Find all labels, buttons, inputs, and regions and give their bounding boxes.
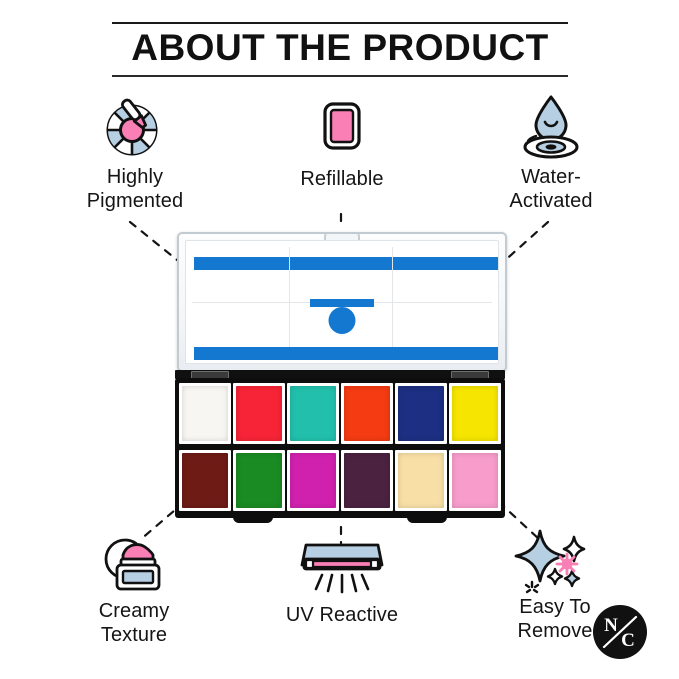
- lid-accent-bar-top: [194, 257, 498, 270]
- paint-swatch-teal: [290, 386, 336, 441]
- water-droplet-icon: [516, 91, 586, 163]
- palette-tray: [175, 378, 505, 518]
- paint-swatch-red: [236, 386, 282, 441]
- paint-swatch-pink: [452, 453, 498, 508]
- icon-wrap: [257, 90, 427, 168]
- palette-lid-inner: [185, 240, 499, 364]
- feature-creamy-texture: Creamy Texture: [49, 528, 219, 647]
- lid-logo-dot: [329, 307, 356, 334]
- brand-logo-c: C: [621, 630, 635, 651]
- paint-pan[interactable]: [287, 383, 339, 444]
- header-rule-bottom: [112, 75, 568, 77]
- feature-label: UV Reactive: [257, 604, 427, 628]
- palette-lid: [177, 232, 507, 372]
- paint-swatch-white: [182, 386, 228, 441]
- paint-swatch-dark-plum: [344, 453, 390, 508]
- page-header: ABOUT THE PRODUCT: [112, 22, 568, 77]
- cream-jar-icon: [97, 531, 171, 597]
- tray-foot-left: [233, 517, 273, 523]
- color-wheel-brush-icon: [100, 92, 170, 162]
- feature-highly-pigmented: Highly Pigmented: [50, 88, 220, 213]
- uv-lamp-icon: [294, 537, 390, 599]
- feature-uv-reactive: UV Reactive: [257, 532, 427, 628]
- sparkles-icon: [514, 525, 596, 595]
- paint-pan[interactable]: [395, 450, 447, 511]
- icon-wrap: [49, 528, 219, 600]
- paint-swatch-navy-blue: [398, 386, 444, 441]
- feature-refillable: Refillable: [257, 90, 427, 192]
- paint-swatch-burgundy: [182, 453, 228, 508]
- paint-swatch-cream: [398, 453, 444, 508]
- icon-wrap: [470, 524, 640, 596]
- tray-foot-right: [407, 517, 447, 523]
- paint-swatch-orange-red: [344, 386, 390, 441]
- refill-pan-icon: [312, 94, 372, 164]
- paint-pan[interactable]: [449, 450, 501, 511]
- feature-label: Highly Pigmented: [50, 166, 220, 213]
- feature-label: Water- Activated: [466, 166, 636, 213]
- paint-pan[interactable]: [341, 450, 393, 511]
- pan-row-bottom: [179, 450, 501, 511]
- lid-accent-bar-bottom: [194, 347, 498, 360]
- paint-pan[interactable]: [233, 383, 285, 444]
- lid-logo-bar: [310, 299, 374, 307]
- paint-pan[interactable]: [395, 383, 447, 444]
- pink-starburst: [557, 554, 577, 574]
- icon-wrap: [50, 88, 220, 166]
- feature-label: Creamy Texture: [49, 600, 219, 647]
- paint-pan[interactable]: [449, 383, 501, 444]
- paint-swatch-magenta: [290, 453, 336, 508]
- small-sparkle: [526, 582, 538, 592]
- paint-swatch-yellow: [452, 386, 498, 441]
- paint-pan[interactable]: [233, 450, 285, 511]
- paint-pan[interactable]: [341, 383, 393, 444]
- feature-water-activated: Water- Activated: [466, 88, 636, 213]
- face-paint-palette: [175, 232, 505, 528]
- paint-pan[interactable]: [179, 450, 231, 511]
- feature-label: Refillable: [257, 168, 427, 192]
- paint-pan[interactable]: [179, 383, 231, 444]
- paint-swatch-green: [236, 453, 282, 508]
- icon-wrap: [466, 88, 636, 166]
- pan-row-top: [179, 383, 501, 444]
- brand-logo-n: N: [604, 615, 618, 636]
- paint-pan[interactable]: [287, 450, 339, 511]
- brand-logo: N C: [592, 604, 648, 660]
- page-title: ABOUT THE PRODUCT: [112, 24, 568, 75]
- icon-wrap: [257, 532, 427, 604]
